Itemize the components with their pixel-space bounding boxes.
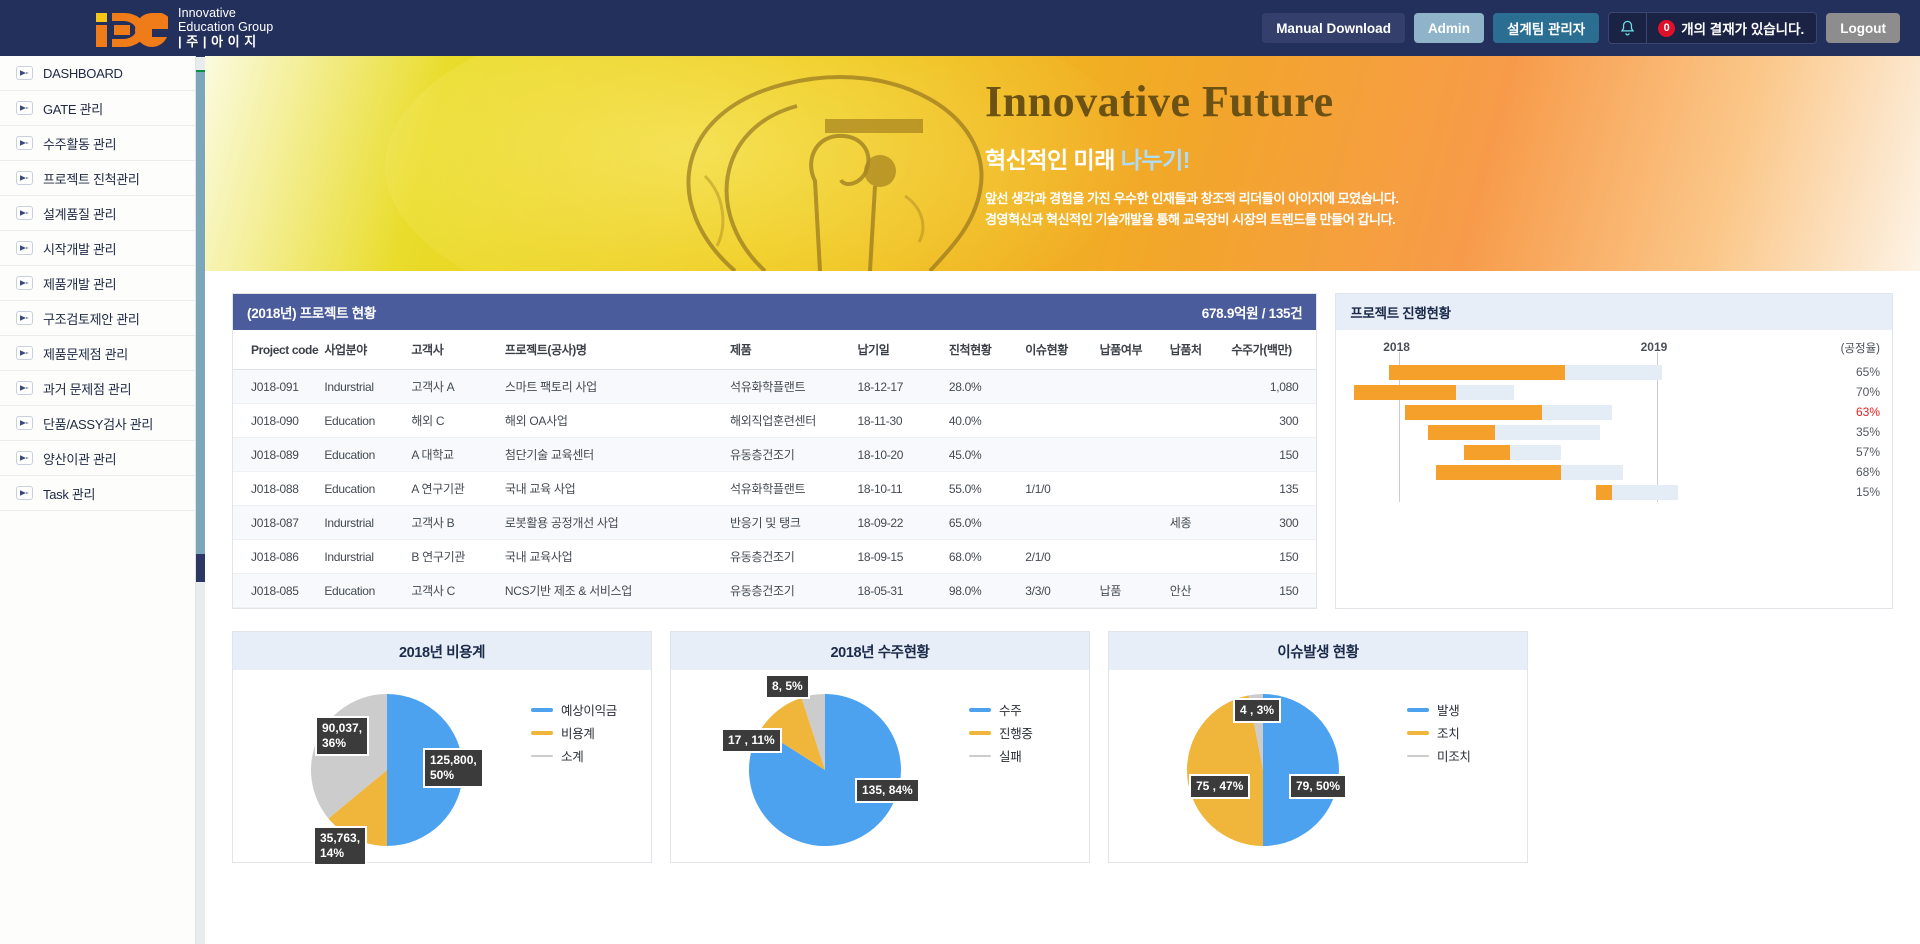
table-cell-name: 로봇활용 공정개선 사업 <box>505 506 730 540</box>
brand-line-2: Education Group <box>178 20 273 34</box>
table-column-header: 고객사 <box>411 330 504 370</box>
table-cell-progress: 45.0% <box>949 438 1025 472</box>
table-cell-price: 300 <box>1231 506 1316 540</box>
banner-desc-line-2: 경영혁신과 혁신적인 기술개발을 통해 교육장비 시장의 트렌드를 만들어 갑니… <box>985 212 1395 227</box>
table-cell-name: 첨단기술 교육센터 <box>505 438 730 472</box>
chevron-right-icon <box>16 171 33 185</box>
pie-chart-body: 79, 50%75 , 47%4 , 3%발생조치미조치 <box>1109 670 1527 862</box>
pie-data-label: 75 , 47% <box>1189 774 1250 799</box>
table-column-header: Project code <box>233 330 324 370</box>
table-cell-product: 해외직업훈련센터 <box>730 404 857 438</box>
legend-label: 소계 <box>561 746 583 765</box>
gantt-axis: 20182019(공정율) <box>1336 336 1892 362</box>
legend-item[interactable]: 비용계 <box>531 723 637 742</box>
sidebar-item-label: 제품개발 관리 <box>43 274 116 293</box>
legend-label: 수주 <box>999 700 1021 719</box>
banner-title: Innovative Future <box>985 76 1685 127</box>
table-cell-price: 150 <box>1231 540 1316 574</box>
legend-item[interactable]: 예상이익금 <box>531 700 637 719</box>
table-cell-name: NCS기반 제조 & 서비스업 <box>505 574 730 608</box>
gantt-panel-header: 프로젝트 진행현황 <box>1336 294 1892 330</box>
table-cell-code: J018-085 <box>233 574 324 608</box>
scrollbar-thumb[interactable] <box>196 72 205 554</box>
legend-label: 진행중 <box>999 723 1033 742</box>
legend-swatch <box>969 708 991 712</box>
table-cell-due: 18-12-17 <box>858 370 949 404</box>
legend-swatch <box>1407 731 1429 735</box>
gantt-row: 65% <box>1336 362 1892 382</box>
scrollbar-bottom-cap <box>196 554 205 582</box>
table-cell-field: Education <box>324 404 411 438</box>
pie-chart-body: 125,800, 50%35,763, 14%90,037, 36%예상이익금비… <box>233 670 651 862</box>
sidebar-item-label: 과거 문제점 관리 <box>43 379 131 398</box>
table-cell-issue: 1/1/0 <box>1025 472 1099 506</box>
sidebar-item-label: 구조검토제안 관리 <box>43 309 140 328</box>
pie-data-label: 8, 5% <box>765 674 810 699</box>
chevron-right-icon <box>16 416 33 430</box>
table-column-header: 사업분야 <box>324 330 411 370</box>
hero-banner: Innovative Future 혁신적인 미래 나누기! 앞선 생각과 경험… <box>205 56 1920 271</box>
table-cell-product: 반응기 및 탱크 <box>730 506 857 540</box>
gantt-rate-label: 15% <box>1856 485 1880 499</box>
banner-description: 앞선 생각과 경험을 가진 우수한 인재들과 창조적 리더들이 아이지에 모였습… <box>985 189 1685 231</box>
sidebar-item-1[interactable]: GATE 관리 <box>0 91 195 126</box>
manual-download-button[interactable]: Manual Download <box>1262 13 1405 43</box>
dashboard-row-2: 2018년 비용계125,800, 50%35,763, 14%90,037, … <box>205 609 1920 863</box>
table-cell-progress: 98.0% <box>949 574 1025 608</box>
table-row[interactable]: J018-089EducationA 대학교첨단기술 교육센터유동층건조기18-… <box>233 438 1316 472</box>
table-cell-delivered <box>1100 370 1170 404</box>
table-cell-due: 18-10-11 <box>858 472 949 506</box>
idg-logo-icon <box>96 9 168 47</box>
legend-item[interactable]: 미조치 <box>1407 746 1513 765</box>
sidebar-item-label: 설계품질 관리 <box>43 204 116 223</box>
table-cell-client: 고객사 A <box>411 370 504 404</box>
gantt-rate-label: 63% <box>1856 405 1880 419</box>
chevron-right-icon <box>16 276 33 290</box>
legend-swatch <box>969 755 991 757</box>
pie-panel-title: 2018년 수주현황 <box>671 632 1089 670</box>
table-cell-field: Indurstrial <box>324 506 411 540</box>
table-cell-client: 고객사 C <box>411 574 504 608</box>
table-cell-price: 135 <box>1231 472 1316 506</box>
pie-panel-title: 이슈발생 현황 <box>1109 632 1527 670</box>
table-cell-delivered <box>1100 472 1170 506</box>
pie-data-label: 135, 84% <box>855 778 920 803</box>
table-cell-client: B 연구기관 <box>411 540 504 574</box>
legend-label: 비용계 <box>561 723 595 742</box>
legend-label: 예상이익금 <box>561 700 617 719</box>
table-cell-issue <box>1025 506 1099 540</box>
gantt-tick-2019: 2019 <box>1641 340 1668 354</box>
gantt-progress-bar <box>1354 385 1455 400</box>
legend-label: 미조치 <box>1437 746 1471 765</box>
notification-bar[interactable]: 0 개의 결재가 있습니다. <box>1608 12 1817 44</box>
gantt-progress-bar <box>1389 365 1565 380</box>
chevron-right-icon <box>16 381 33 395</box>
left-sidebar-nav: DASHBOARDGATE 관리수주활동 관리프로젝트 진척관리설계품질 관리시… <box>0 56 196 944</box>
table-body: J018-091Indurstrial고객사 A스마트 팩토리 사업석유화학플랜… <box>233 370 1316 608</box>
project-status-panel: (2018년) 프로젝트 현황 678.9억원 / 135건 Project c… <box>232 293 1317 609</box>
banner-subtitle: 혁신적인 미래 나누기! <box>985 141 1685 175</box>
table-cell-client: A 연구기관 <box>411 472 504 506</box>
banner-desc-line-1: 앞선 생각과 경험을 가진 우수한 인재들과 창조적 리더들이 아이지에 모였습… <box>985 191 1399 206</box>
sidebar-item-2[interactable]: 수주활동 관리 <box>0 126 195 161</box>
legend-swatch <box>969 731 991 735</box>
table-cell-due: 18-09-15 <box>858 540 949 574</box>
table-cell-progress: 68.0% <box>949 540 1025 574</box>
pie-chart-panel: 2018년 수주현황135, 84%17 , 11%8, 5%수주진행중실패 <box>670 631 1090 863</box>
gantt-row: 70% <box>1336 382 1892 402</box>
table-cell-place: 안산 <box>1170 574 1232 608</box>
chevron-right-icon <box>16 311 33 325</box>
legend-label: 발생 <box>1437 700 1459 719</box>
table-cell-delivered <box>1100 540 1170 574</box>
banner-copy: Innovative Future 혁신적인 미래 나누기! 앞선 생각과 경험… <box>985 56 1685 231</box>
table-row[interactable]: J018-085Education고객사 CNCS기반 제조 & 서비스업유동층… <box>233 574 1316 608</box>
legend-label: 실패 <box>999 746 1021 765</box>
gantt-progress-bar <box>1428 425 1494 440</box>
chevron-right-icon <box>16 206 33 220</box>
gantt-rate-label: 57% <box>1856 445 1880 459</box>
table-row[interactable]: J018-087Indurstrial고객사 B로봇활용 공정개선 사업반응기 … <box>233 506 1316 540</box>
table-cell-place <box>1170 370 1232 404</box>
table-cell-client: 고객사 B <box>411 506 504 540</box>
table-cell-product: 유동층건조기 <box>730 574 857 608</box>
gantt-progress-bar <box>1596 485 1612 500</box>
sidebar-item-label: DASHBOARD <box>43 66 123 81</box>
pie-panel-title: 2018년 비용계 <box>233 632 651 670</box>
table-cell-name: 스마트 팩토리 사업 <box>505 370 730 404</box>
sidebar-item-10[interactable]: 단품/ASSY검사 관리 <box>0 406 195 441</box>
legend-item[interactable]: 소계 <box>531 746 637 765</box>
chevron-right-icon <box>16 346 33 360</box>
legend-item[interactable]: 실패 <box>969 746 1075 765</box>
table-cell-progress: 40.0% <box>949 404 1025 438</box>
gantt-rate-label: 70% <box>1856 385 1880 399</box>
gantt-row: 63% <box>1336 402 1892 422</box>
table-cell-place <box>1170 540 1232 574</box>
table-cell-place: 세종 <box>1170 506 1232 540</box>
table-cell-product: 유동층건조기 <box>730 540 857 574</box>
table-cell-due: 18-11-30 <box>858 404 949 438</box>
table-row[interactable]: J018-090Education해외 C해외 OA사업해외직업훈련센터18-1… <box>233 404 1316 438</box>
legend-item[interactable]: 발생 <box>1407 700 1513 719</box>
brand-line-3: | 주 | 아 이 지 <box>178 35 273 50</box>
legend-item[interactable]: 수주 <box>969 700 1075 719</box>
sidebar-scrollbar[interactable] <box>196 56 205 944</box>
gantt-progress-bar <box>1405 405 1542 420</box>
gantt-row: 35% <box>1336 422 1892 442</box>
table-cell-due: 18-09-22 <box>858 506 949 540</box>
table-column-header: 진척현황 <box>949 330 1025 370</box>
table-cell-code: J018-086 <box>233 540 324 574</box>
banner-subtitle-main: 혁신적인 미래 <box>985 147 1121 173</box>
notification-text: 개의 결재가 있습니다. <box>1681 18 1804 38</box>
table-cell-product: 유동층건조기 <box>730 438 857 472</box>
sidebar-item-6[interactable]: 제품개발 관리 <box>0 266 195 301</box>
sidebar-item-0[interactable]: DASHBOARD <box>0 56 195 91</box>
chevron-right-icon <box>16 66 33 80</box>
pie-legend: 예상이익금비용계소계 <box>531 700 637 769</box>
table-cell-code: J018-090 <box>233 404 324 438</box>
table-cell-name: 해외 OA사업 <box>505 404 730 438</box>
banner-subtitle-accent: 나누기! <box>1121 147 1190 173</box>
chevron-right-icon <box>16 101 33 115</box>
project-table: Project code사업분야고객사프로젝트(공사)명제품납기일진척현황이슈현… <box>233 330 1316 608</box>
table-cell-delivered <box>1100 438 1170 472</box>
table-cell-issue <box>1025 404 1099 438</box>
project-panel-title: (2018년) 프로젝트 현황 <box>247 302 376 322</box>
dashboard-row-1: (2018년) 프로젝트 현황 678.9억원 / 135건 Project c… <box>205 271 1920 609</box>
sidebar-item-4[interactable]: 설계품질 관리 <box>0 196 195 231</box>
table-column-header: 프로젝트(공사)명 <box>505 330 730 370</box>
sidebar-item-label: 제품문제점 관리 <box>43 344 128 363</box>
gantt-tick-2018: 2018 <box>1383 340 1410 354</box>
sidebar-item-label: 단품/ASSY검사 관리 <box>43 414 153 433</box>
gantt-rate-label: 68% <box>1856 465 1880 479</box>
sidebar-item-label: 프로젝트 진척관리 <box>43 169 140 188</box>
table-cell-client: A 대학교 <box>411 438 504 472</box>
table-cell-field: Education <box>324 472 411 506</box>
brand-logo-block[interactable]: Innovative Education Group | 주 | 아 이 지 <box>0 6 273 50</box>
table-cell-code: J018-088 <box>233 472 324 506</box>
sidebar-item-label: 수주활동 관리 <box>43 134 116 153</box>
project-panel-summary: 678.9억원 / 135건 <box>1202 302 1303 322</box>
table-cell-place <box>1170 404 1232 438</box>
gantt-chart: 20182019(공정율)65%70%63%35%57%68%15% <box>1336 330 1892 508</box>
table-column-header: 납품처 <box>1170 330 1232 370</box>
sidebar-item-12[interactable]: Task 관리 <box>0 476 195 511</box>
top-header-bar: Innovative Education Group | 주 | 아 이 지 M… <box>0 0 1920 56</box>
legend-item[interactable]: 조치 <box>1407 723 1513 742</box>
table-cell-product: 석유화학플랜트 <box>730 472 857 506</box>
table-cell-product: 석유화학플랜트 <box>730 370 857 404</box>
table-cell-place <box>1170 438 1232 472</box>
sidebar-item-label: GATE 관리 <box>43 99 103 118</box>
gantt-row: 15% <box>1336 482 1892 502</box>
chevron-right-icon <box>16 451 33 465</box>
pie-data-label: 90,037, 36% <box>315 716 369 756</box>
table-cell-field: Education <box>324 438 411 472</box>
pie-data-label: 125,800, 50% <box>423 748 484 788</box>
sidebar-item-5[interactable]: 시작개발 관리 <box>0 231 195 266</box>
pie-svg <box>733 678 923 864</box>
gantt-progress-bar <box>1464 445 1511 460</box>
gantt-rate-label: 65% <box>1856 365 1880 379</box>
table-cell-progress: 55.0% <box>949 472 1025 506</box>
sidebar-item-label: 양산이관 관리 <box>43 449 116 468</box>
project-panel-header: (2018년) 프로젝트 현황 678.9억원 / 135건 <box>233 294 1316 330</box>
table-column-header: 이슈현황 <box>1025 330 1099 370</box>
notification-count-badge: 0 <box>1658 20 1675 37</box>
table-cell-progress: 65.0% <box>949 506 1025 540</box>
sidebar-item-3[interactable]: 프로젝트 진척관리 <box>0 161 195 196</box>
table-cell-due: 18-05-31 <box>858 574 949 608</box>
table-cell-price: 300 <box>1231 404 1316 438</box>
table-cell-price: 150 <box>1231 438 1316 472</box>
table-cell-issue: 2/1/0 <box>1025 540 1099 574</box>
legend-swatch <box>531 731 553 735</box>
table-cell-delivered <box>1100 404 1170 438</box>
gantt-progress-bar <box>1436 465 1561 480</box>
table-cell-price: 1,080 <box>1231 370 1316 404</box>
table-cell-client: 해외 C <box>411 404 504 438</box>
main-content: Innovative Future 혁신적인 미래 나누기! 앞선 생각과 경험… <box>205 56 1920 944</box>
pie-data-label: 35,763, 14% <box>313 826 367 866</box>
project-progress-panel: 프로젝트 진행현황 20182019(공정율)65%70%63%35%57%68… <box>1335 293 1893 609</box>
table-column-header: 납기일 <box>858 330 949 370</box>
table-cell-issue <box>1025 438 1099 472</box>
table-cell-field: Indurstrial <box>324 540 411 574</box>
table-row[interactable]: J018-086IndurstrialB 연구기관국내 교육사업유동층건조기18… <box>233 540 1316 574</box>
table-cell-name: 국내 교육 사업 <box>505 472 730 506</box>
bell-icon[interactable] <box>1609 13 1647 43</box>
table-header-row: Project code사업분야고객사프로젝트(공사)명제품납기일진척현황이슈현… <box>233 330 1316 370</box>
pie-data-label: 17 , 11% <box>721 728 782 753</box>
pie-legend: 발생조치미조치 <box>1407 700 1513 769</box>
sidebar-item-8[interactable]: 제품문제점 관리 <box>0 336 195 371</box>
table-row[interactable]: J018-091Indurstrial고객사 A스마트 팩토리 사업석유화학플랜… <box>233 370 1316 404</box>
legend-swatch <box>531 755 553 757</box>
table-cell-code: J018-087 <box>233 506 324 540</box>
logout-button[interactable]: Logout <box>1826 13 1900 43</box>
sidebar-item-7[interactable]: 구조검토제안 관리 <box>0 301 195 336</box>
gantt-panel-title: 프로젝트 진행현황 <box>1350 302 1450 322</box>
legend-swatch <box>1407 708 1429 712</box>
pie-data-label: 4 , 3% <box>1233 698 1281 723</box>
legend-swatch <box>531 708 553 712</box>
table-cell-delivered: 납품 <box>1100 574 1170 608</box>
legend-label: 조치 <box>1437 723 1459 742</box>
table-cell-name: 국내 교육사업 <box>505 540 730 574</box>
header-actions: Manual Download Admin 설계팀 관리자 0 개의 결재가 있… <box>1262 12 1920 44</box>
brand-line-1: Innovative <box>178 6 273 20</box>
table-cell-issue: 3/3/0 <box>1025 574 1099 608</box>
gantt-row: 68% <box>1336 462 1892 482</box>
pie-chart-panel: 2018년 비용계125,800, 50%35,763, 14%90,037, … <box>232 631 652 863</box>
pie-legend: 수주진행중실패 <box>969 700 1075 769</box>
team-manager-button[interactable]: 설계팀 관리자 <box>1493 13 1599 43</box>
chevron-right-icon <box>16 241 33 255</box>
gantt-rate-header: (공정율) <box>1841 340 1880 356</box>
table-cell-place <box>1170 472 1232 506</box>
scrollbar-top-cap <box>196 56 205 57</box>
table-cell-field: Education <box>324 574 411 608</box>
chevron-right-icon <box>16 136 33 150</box>
table-cell-price: 150 <box>1231 574 1316 608</box>
table-row[interactable]: J018-088EducationA 연구기관국내 교육 사업석유화학플랜트18… <box>233 472 1316 506</box>
pie-data-label: 79, 50% <box>1289 774 1347 799</box>
table-column-header: 수주가(백만) <box>1231 330 1316 370</box>
table-cell-due: 18-10-20 <box>858 438 949 472</box>
legend-item[interactable]: 진행중 <box>969 723 1075 742</box>
chevron-right-icon <box>16 486 33 500</box>
pie-chart-panel: 이슈발생 현황79, 50%75 , 47%4 , 3%발생조치미조치 <box>1108 631 1528 863</box>
table-cell-progress: 28.0% <box>949 370 1025 404</box>
table-cell-issue <box>1025 370 1099 404</box>
admin-button[interactable]: Admin <box>1414 13 1484 43</box>
sidebar-item-11[interactable]: 양산이관 관리 <box>0 441 195 476</box>
table-cell-code: J018-091 <box>233 370 324 404</box>
pie-chart-body: 135, 84%17 , 11%8, 5%수주진행중실패 <box>671 670 1089 862</box>
table-cell-field: Indurstrial <box>324 370 411 404</box>
sidebar-item-9[interactable]: 과거 문제점 관리 <box>0 371 195 406</box>
sidebar-item-label: 시작개발 관리 <box>43 239 116 258</box>
legend-swatch <box>1407 755 1429 757</box>
table-column-header: 제품 <box>730 330 857 370</box>
sidebar-item-label: Task 관리 <box>43 484 95 503</box>
gantt-rate-label: 35% <box>1856 425 1880 439</box>
table-column-header: 납품여부 <box>1100 330 1170 370</box>
gantt-row: 57% <box>1336 442 1892 462</box>
table-cell-code: J018-089 <box>233 438 324 472</box>
table-cell-delivered <box>1100 506 1170 540</box>
